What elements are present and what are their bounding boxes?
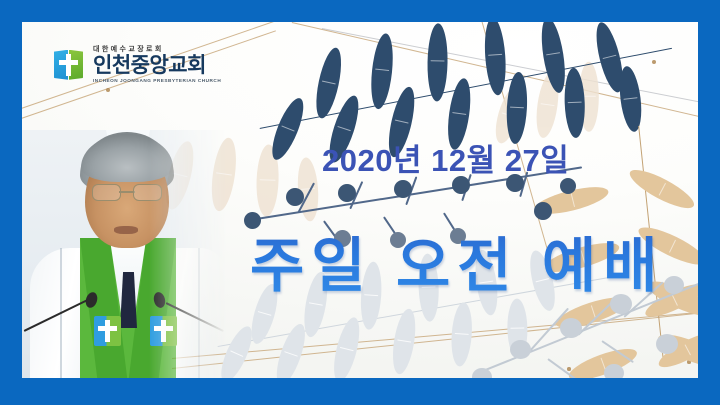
stole-cross-emblem	[150, 316, 177, 346]
denomination-label: 대한예수교장로회	[93, 46, 219, 53]
service-title: 주일 오전 예배	[250, 218, 664, 303]
church-logo: 대한예수교장로회 인천중앙교회 INCHEON JOONGANG PRESBYT…	[52, 46, 219, 84]
church-name: 인천중앙교회	[93, 55, 219, 76]
church-logo-text: 대한예수교장로회 인천중앙교회 INCHEON JOONGANG PRESBYT…	[93, 46, 219, 84]
service-date: 2020년 12월 27일	[322, 135, 569, 180]
church-cross-icon	[52, 48, 86, 82]
content-card: 대한예수교장로회 인천중앙교회 INCHEON JOONGANG PRESBYT…	[22, 22, 698, 378]
stole-cross-emblem	[94, 316, 121, 346]
pastor-photo	[22, 130, 227, 378]
slide-frame: 대한예수교장로회 인천중앙교회 INCHEON JOONGANG PRESBYT…	[0, 0, 720, 405]
decor-dot	[106, 88, 110, 92]
pastor-mouth	[114, 226, 138, 234]
church-name-english: INCHEON JOONGANG PRESBYTERIAN CHURCH	[93, 79, 221, 84]
pastor-glasses	[92, 184, 162, 199]
